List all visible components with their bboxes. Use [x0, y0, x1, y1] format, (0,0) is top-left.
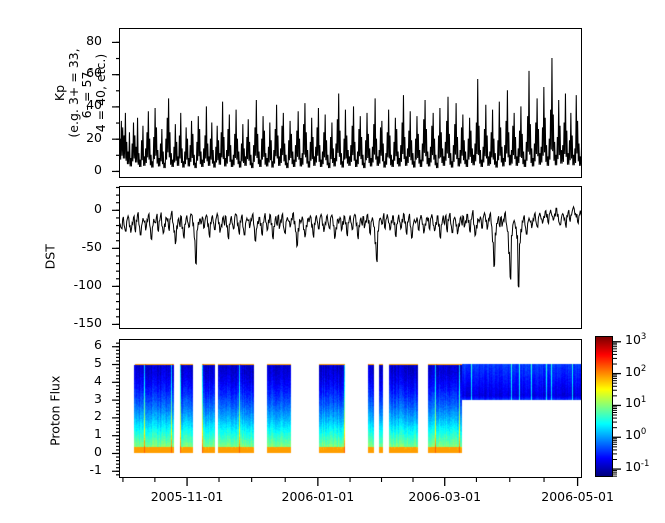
flux-ytick-label: 6 — [60, 337, 102, 352]
dst-plot-panel — [119, 186, 582, 329]
colorbar-tick-label: 100 — [625, 427, 646, 442]
dst-ytick-label: -150 — [52, 315, 102, 330]
colorbar-tick-label: 101 — [625, 395, 646, 410]
flux-ytick-label: 5 — [60, 355, 102, 370]
kp-tick-marks — [104, 28, 120, 180]
x-axis-tick-label: 2006-05-01 — [533, 489, 623, 504]
colorbar-tick-marks — [613, 336, 623, 479]
dst-ytick-label: -50 — [52, 239, 102, 254]
flux-spectrogram — [120, 340, 581, 477]
flux-ytick-label: 3 — [60, 391, 102, 406]
flux-ytick-label: 1 — [60, 426, 102, 441]
colorbar-tick-label: 10-1 — [625, 459, 649, 474]
kp-plot-panel — [119, 28, 582, 178]
kp-ytick-label: 80 — [62, 33, 102, 48]
dst-ytick-label: -100 — [52, 277, 102, 292]
kp-ytick-label: 40 — [62, 97, 102, 112]
flux-ytick-label: 4 — [60, 373, 102, 388]
flux-ytick-label: -1 — [60, 462, 102, 477]
flux-spectrogram-panel — [119, 339, 582, 478]
colorbar-tick-label: 102 — [625, 364, 646, 379]
dst-ytick-label: 0 — [52, 201, 102, 216]
x-axis-tick-label: 2006-03-01 — [400, 489, 490, 504]
colorbar-tick-label: 103 — [625, 332, 646, 347]
flux-ytick-label: 0 — [60, 444, 102, 459]
x-axis-tick-label: 2005-11-01 — [142, 489, 232, 504]
figure-root: Kp (e.g. 3+ = 33, 6- = 57, 4 = 40, etc.)… — [0, 0, 665, 523]
flux-ytick-label: 2 — [60, 408, 102, 423]
flux-tick-marks — [104, 339, 120, 480]
kp-ytick-label: 0 — [62, 162, 102, 177]
dst-trace — [120, 187, 582, 329]
x-axis-tick-label: 2006-01-01 — [273, 489, 363, 504]
kp-ytick-label: 20 — [62, 130, 102, 145]
colorbar — [595, 336, 613, 477]
kp-trace — [120, 29, 582, 178]
kp-ytick-label: 60 — [62, 65, 102, 80]
x-axis-tick-marks — [119, 478, 583, 488]
dst-tick-marks — [104, 186, 120, 331]
